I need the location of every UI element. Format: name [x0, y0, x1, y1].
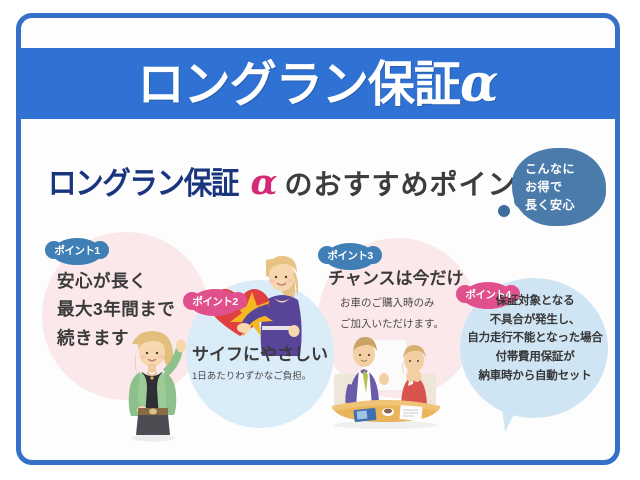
page-title: ロングラン保証α [138, 58, 498, 110]
point-2-badge: ポイント2 [190, 289, 240, 316]
subheading-brand: ロングラン保証 [48, 158, 238, 203]
page-title-text: ロングラン保証 [138, 58, 461, 112]
page-title-alpha: α [461, 53, 498, 114]
point-3-heading-line-1: チャンスは今だけ [328, 268, 464, 290]
point-4-heading-line-2: 不具合が発生し、 [460, 311, 610, 330]
point-1-heading-line-2: 最大3年間まで [57, 295, 175, 323]
title-band: ロングラン保証α [19, 48, 617, 119]
point-2-text: サイフにやさしい 1日あたりわずかなご負担。 [192, 344, 328, 384]
callout-line-3: 長く安心 [525, 196, 575, 214]
point-4-heading-line-4: 付帯費用保証が [460, 348, 610, 367]
point-2-sub-line-1: 1日あたりわずかなご負担。 [192, 370, 328, 384]
point-4-badge-label: ポイント4 [465, 290, 510, 301]
point-1-text: 安心が長く 最大3年間まで 続きます [57, 267, 175, 352]
callout-bubble: こんなに お得で 長く安心 [512, 148, 606, 226]
point-2-badge-label: ポイント2 [192, 297, 237, 308]
point-1-heading-line-3: 続きます [57, 324, 175, 352]
subheading: ロングラン保証α のおすすめポイント [48, 158, 545, 203]
point-4-text: 保証対象となる 不具合が発生し、 自力走行不能となった場合 付帯費用保証が 納車… [460, 292, 610, 385]
salesman-and-customer-illustration [318, 330, 454, 430]
point-3-sub-line-2: ご加入いただけます。 [340, 316, 464, 332]
point-3-sub-line-1: お車のご購入時のみ [340, 295, 464, 311]
callout-line-1: こんなに [525, 160, 575, 178]
point-2-heading-line-1: サイフにやさしい [192, 344, 328, 366]
point-3-badge-label: ポイント3 [327, 251, 372, 262]
subheading-alpha: α [251, 162, 278, 203]
callout-line-2: お得で [525, 178, 563, 196]
point-4-heading-line-5: 納車時から自動セット [460, 367, 610, 386]
callout-bubble-dot [498, 205, 510, 217]
point-4-heading-line-3: 自力走行不能となった場合 [460, 329, 610, 348]
point-1-heading-line-1: 安心が長く [57, 267, 175, 295]
point-3-text: チャンスは今だけ お車のご購入時のみ ご加入いただけます。 [328, 268, 464, 333]
subheading-rest: のおすすめポイント [284, 163, 545, 203]
point-1-badge: ポイント1 [52, 238, 102, 265]
point-3-badge: ポイント3 [325, 243, 375, 270]
poster-root: ロングラン保証α ロングラン保証α のおすすめポイント こんなに お得で 長く安… [0, 0, 640, 480]
point-1-badge-label: ポイント1 [54, 246, 99, 257]
